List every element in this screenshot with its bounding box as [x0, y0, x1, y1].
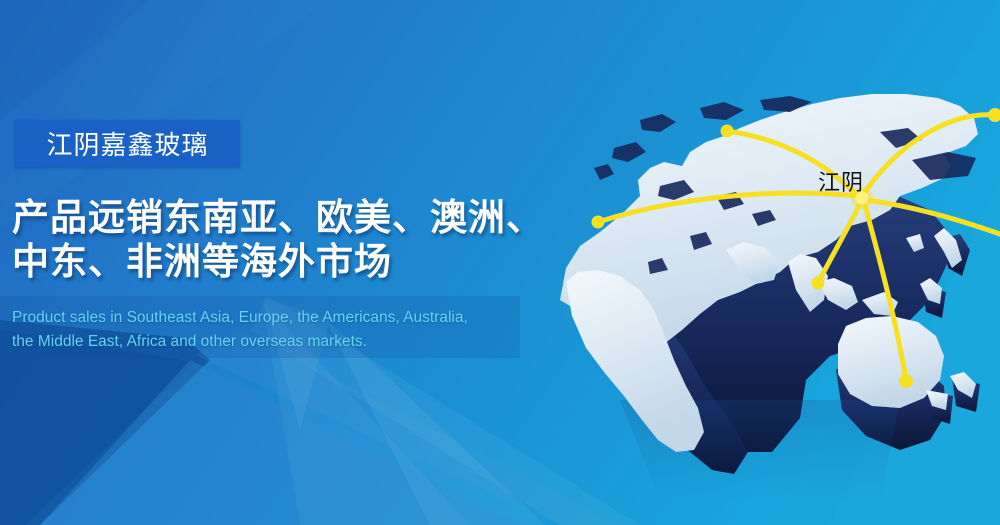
- promo-banner: 江阴 江阴嘉鑫玻璃 产品远销东南亚、欧美、澳洲、 中东、非洲等海外市场 Prod…: [0, 0, 1000, 525]
- route-americas: [862, 115, 995, 196]
- map-land-tops: [560, 94, 978, 452]
- hub-label: 江阴: [818, 165, 864, 197]
- headline-line-1: 产品远销东南亚、欧美、澳洲、: [12, 196, 592, 240]
- brand-badge-label: 江阴嘉鑫玻璃: [46, 125, 208, 162]
- endpoint-australia: [899, 374, 913, 388]
- map-reflection: [620, 400, 900, 500]
- map-inner-detail: [594, 96, 976, 274]
- endpoint-southeast-asia: [812, 277, 825, 290]
- headline: 产品远销东南亚、欧美、澳洲、 中东、非洲等海外市场: [12, 196, 592, 284]
- route-middle-east: [866, 200, 1000, 234]
- endpoint-europe: [721, 125, 734, 138]
- brand-badge: 江阴嘉鑫玻璃: [15, 120, 240, 167]
- subtitle-line-1: Product sales in Southeast Asia, Europe,…: [12, 306, 582, 330]
- map-extrusion-sides: [600, 176, 980, 474]
- banner-text-block: 江阴嘉鑫玻璃 产品远销东南亚、欧美、澳洲、 中东、非洲等海外市场 Product…: [0, 0, 600, 525]
- subtitle-line-2: the Middle East, Africa and other overse…: [12, 330, 582, 354]
- endpoint-americas: [988, 108, 1000, 122]
- route-africa: [598, 193, 858, 222]
- route-australia: [864, 202, 906, 380]
- headline-line-2: 中东、非洲等海外市场: [12, 240, 592, 284]
- route-southeast-asia: [818, 200, 862, 283]
- route-endpoints: [592, 108, 1000, 388]
- subtitle: Product sales in Southeast Asia, Europe,…: [12, 306, 582, 354]
- trade-routes: [598, 115, 1000, 380]
